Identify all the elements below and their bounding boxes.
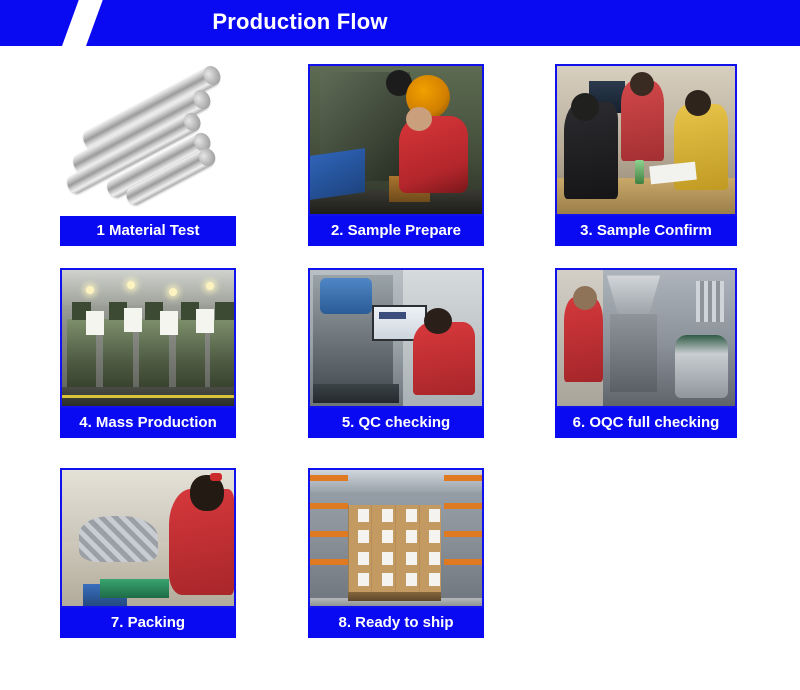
step-image-mass-production (60, 268, 236, 408)
step-label-5: 5. QC checking (308, 408, 484, 438)
step-image-sample-prepare (308, 64, 484, 216)
step-image-ready-to-ship (308, 468, 484, 608)
production-flow-grid: 1 Material Test 2. Sample Prepare 3. Sam… (0, 46, 800, 690)
packing-illustration (62, 470, 234, 606)
flow-step-card-4[interactable]: 4. Mass Production (60, 268, 236, 438)
sample-confirm-illustration (557, 66, 735, 214)
step-label-8: 8. Ready to ship (308, 608, 484, 638)
flow-step-card-8[interactable]: 8. Ready to ship (308, 468, 484, 638)
flow-step-card-1[interactable]: 1 Material Test (60, 64, 236, 246)
steel-bars-illustration (60, 64, 236, 216)
oqc-checking-illustration (557, 270, 735, 406)
flow-step-card-6[interactable]: 6. OQC full checking (555, 268, 737, 438)
step-image-material-test (60, 64, 236, 216)
page-title: Production Flow (0, 0, 800, 46)
step-label-6: 6. OQC full checking (555, 408, 737, 438)
flow-step-card-5[interactable]: 5. QC checking (308, 268, 484, 438)
mass-production-illustration (62, 270, 234, 406)
step-image-packing (60, 468, 236, 608)
step-label-2: 2. Sample Prepare (308, 216, 484, 246)
step-image-oqc-checking (555, 268, 737, 408)
flow-step-card-7[interactable]: 7. Packing (60, 468, 236, 638)
step-image-qc-checking (308, 268, 484, 408)
step-label-1: 1 Material Test (60, 216, 236, 246)
qc-checking-illustration (310, 270, 482, 406)
step-label-7: 7. Packing (60, 608, 236, 638)
step-label-3: 3. Sample Confirm (555, 216, 737, 246)
page-header: Production Flow (0, 0, 800, 46)
flow-step-card-2[interactable]: 2. Sample Prepare (308, 64, 484, 246)
sample-prepare-illustration (310, 66, 482, 214)
step-image-sample-confirm (555, 64, 737, 216)
ready-to-ship-illustration (310, 470, 482, 606)
step-label-4: 4. Mass Production (60, 408, 236, 438)
flow-step-card-3[interactable]: 3. Sample Confirm (555, 64, 737, 246)
